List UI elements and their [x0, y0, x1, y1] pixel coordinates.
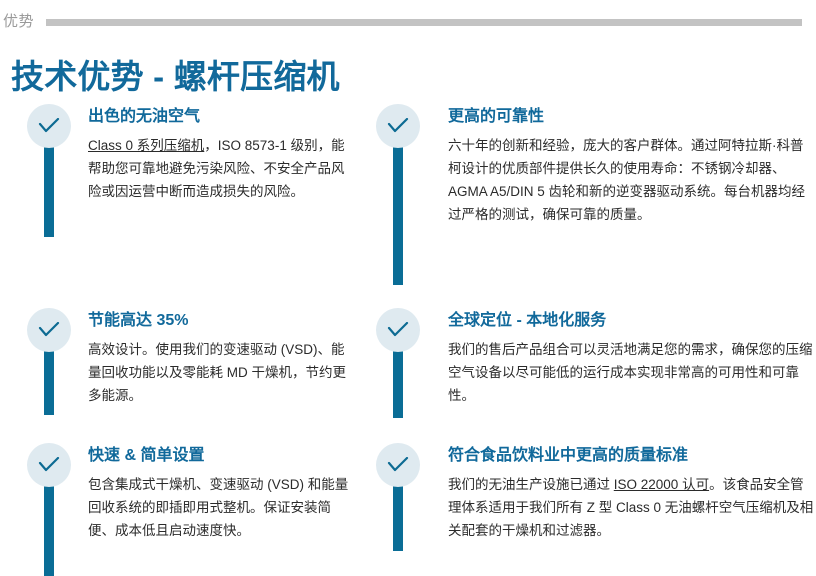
feature-description-prefix: 我们的无油生产设施已通过 [448, 477, 614, 492]
feature-description-text: 包含集成式干燥机、变速驱动 (VSD) 和能量回收系统的即插即用式整机。保证安装… [88, 477, 348, 538]
check-icon [27, 308, 71, 352]
feature-description: 包含集成式干燥机、变速驱动 (VSD) 和能量回收系统的即插即用式整机。保证安装… [88, 473, 355, 542]
section-kicker: 优势 [0, 12, 816, 32]
feature-body: 出色的无油空气 Class 0 系列压缩机，ISO 8573-1 级别，能帮助您… [88, 104, 355, 203]
kicker-rule [46, 19, 802, 26]
feature-column-left: 出色的无油空气 Class 0 系列压缩机，ISO 8573-1 级别，能帮助您… [0, 104, 355, 285]
feature-item-food-beverage-quality: 符合食品饮料业中更高的质量标准 我们的无油生产设施已通过 ISO 22000 认… [355, 443, 816, 551]
page-title: 技术优势 - 螺杆压缩机 [11, 57, 340, 97]
feature-item-quick-simple-setup: 快速 & 简单设置 包含集成式干燥机、变速驱动 (VSD) 和能量回收系统的即插… [0, 443, 355, 576]
features-grid: 出色的无油空气 Class 0 系列压缩机，ISO 8573-1 级别，能帮助您… [0, 104, 816, 576]
feature-description: 我们的售后产品组合可以灵活地满足您的需求，确保您的压缩空气设备以尽可能低的运行成… [448, 338, 816, 407]
feature-marker [27, 443, 71, 576]
feature-row: 节能高达 35% 高效设计。使用我们的变速驱动 (VSD)、能量回收功能以及零能… [0, 308, 816, 418]
feature-item-global-local-service: 全球定位 - 本地化服务 我们的售后产品组合可以灵活地满足您的需求，确保您的压缩… [355, 308, 816, 418]
feature-marker [376, 443, 420, 551]
feature-description-text: 高效设计。使用我们的变速驱动 (VSD)、能量回收功能以及零能耗 MD 干燥机，… [88, 342, 346, 403]
check-icon [376, 104, 420, 148]
feature-description: 我们的无油生产设施已通过 ISO 22000 认可。该食品安全管理体系适用于我们… [448, 473, 816, 542]
feature-marker-bar [44, 145, 54, 237]
feature-row: 快速 & 简单设置 包含集成式干燥机、变速驱动 (VSD) 和能量回收系统的即插… [0, 443, 816, 576]
feature-row: 出色的无油空气 Class 0 系列压缩机，ISO 8573-1 级别，能帮助您… [0, 104, 816, 285]
feature-body: 符合食品饮料业中更高的质量标准 我们的无油生产设施已通过 ISO 22000 认… [448, 443, 816, 542]
feature-marker [376, 308, 420, 418]
feature-title: 符合食品饮料业中更高的质量标准 [448, 445, 816, 467]
feature-inline-link[interactable]: Class 0 系列压缩机 [88, 138, 204, 153]
check-icon [376, 443, 420, 487]
kicker-label: 优势 [0, 12, 34, 32]
feature-inline-link[interactable]: ISO 22000 认可 [614, 477, 709, 492]
feature-marker [376, 104, 420, 285]
feature-marker-bar [393, 349, 403, 418]
feature-title: 全球定位 - 本地化服务 [448, 310, 816, 332]
feature-column-right: 符合食品饮料业中更高的质量标准 我们的无油生产设施已通过 ISO 22000 认… [355, 443, 816, 576]
feature-body: 全球定位 - 本地化服务 我们的售后产品组合可以灵活地满足您的需求，确保您的压缩… [448, 308, 816, 407]
feature-item-oil-free-air: 出色的无油空气 Class 0 系列压缩机，ISO 8573-1 级别，能帮助您… [0, 104, 355, 237]
feature-column-right: 全球定位 - 本地化服务 我们的售后产品组合可以灵活地满足您的需求，确保您的压缩… [355, 308, 816, 418]
feature-marker-bar [44, 349, 54, 415]
feature-item-higher-reliability: 更高的可靠性 六十年的创新和经验，庞大的客户群体。通过阿特拉斯·科普柯设计的优质… [355, 104, 816, 285]
check-icon [27, 443, 71, 487]
feature-body: 快速 & 简单设置 包含集成式干燥机、变速驱动 (VSD) 和能量回收系统的即插… [88, 443, 355, 542]
feature-marker-bar [393, 484, 403, 551]
feature-item-energy-savings: 节能高达 35% 高效设计。使用我们的变速驱动 (VSD)、能量回收功能以及零能… [0, 308, 355, 415]
check-icon [27, 104, 71, 148]
feature-title: 快速 & 简单设置 [88, 445, 355, 467]
feature-description: Class 0 系列压缩机，ISO 8573-1 级别，能帮助您可靠地避免污染风… [88, 134, 355, 203]
feature-marker-bar [44, 484, 54, 576]
feature-column-left: 快速 & 简单设置 包含集成式干燥机、变速驱动 (VSD) 和能量回收系统的即插… [0, 443, 355, 576]
feature-body: 更高的可靠性 六十年的创新和经验，庞大的客户群体。通过阿特拉斯·科普柯设计的优质… [448, 104, 816, 226]
check-icon [376, 308, 420, 352]
feature-title: 节能高达 35% [88, 310, 355, 332]
feature-title: 出色的无油空气 [88, 106, 355, 128]
feature-marker [27, 104, 71, 237]
feature-description-text: 我们的售后产品组合可以灵活地满足您的需求，确保您的压缩空气设备以尽可能低的运行成… [448, 342, 813, 403]
feature-description: 六十年的创新和经验，庞大的客户群体。通过阿特拉斯·科普柯设计的优质部件提供长久的… [448, 134, 816, 226]
feature-description-text: 六十年的创新和经验，庞大的客户群体。通过阿特拉斯·科普柯设计的优质部件提供长久的… [448, 138, 805, 222]
feature-marker [27, 308, 71, 415]
feature-description: 高效设计。使用我们的变速驱动 (VSD)、能量回收功能以及零能耗 MD 干燥机，… [88, 338, 355, 407]
feature-body: 节能高达 35% 高效设计。使用我们的变速驱动 (VSD)、能量回收功能以及零能… [88, 308, 355, 407]
feature-marker-bar [393, 145, 403, 285]
feature-column-left: 节能高达 35% 高效设计。使用我们的变速驱动 (VSD)、能量回收功能以及零能… [0, 308, 355, 418]
feature-column-right: 更高的可靠性 六十年的创新和经验，庞大的客户群体。通过阿特拉斯·科普柯设计的优质… [355, 104, 816, 285]
feature-title: 更高的可靠性 [448, 106, 816, 128]
